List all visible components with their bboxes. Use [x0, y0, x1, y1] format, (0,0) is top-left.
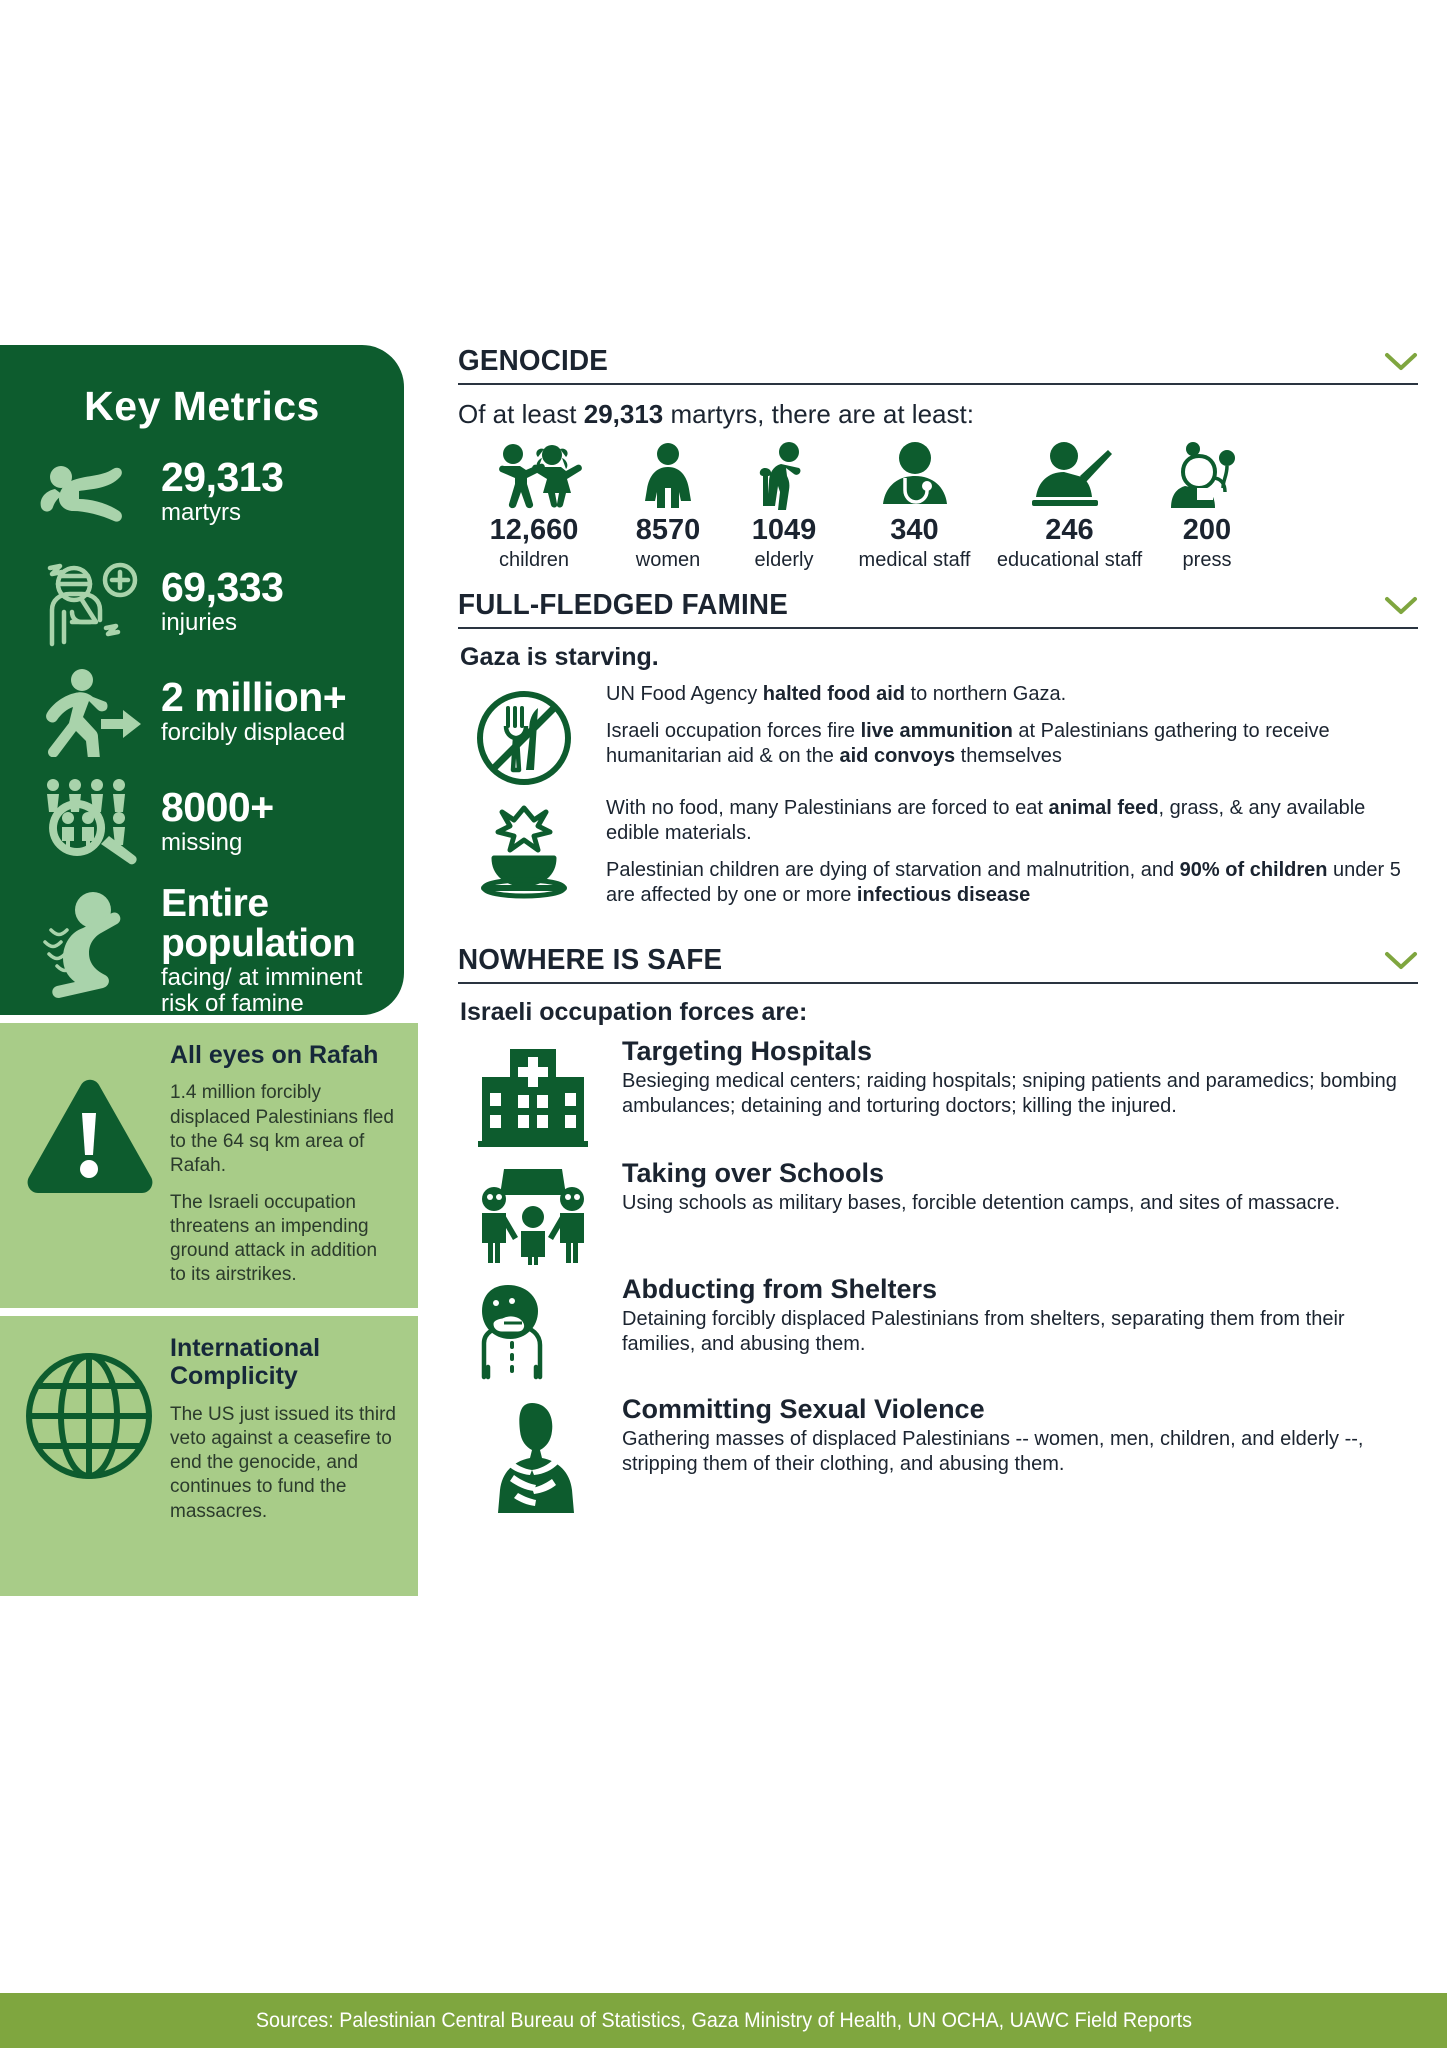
safe-body: Detaining forcibly displaced Palestinian… — [622, 1307, 1418, 1357]
breakdown-value: 340 — [842, 516, 987, 545]
genocide-title: GENOCIDE — [458, 345, 608, 378]
famine-subtitle: Gaza is starving. — [460, 643, 1418, 672]
metric-label: forcibly displaced — [161, 720, 346, 747]
breakdown-cell-children: 12,660 children — [458, 438, 610, 571]
famine-section: FULL-FLEDGED FAMINE Gaza is starving. — [458, 589, 1418, 920]
para-post-2: themselves — [955, 745, 1062, 767]
abduction-icon — [458, 1275, 608, 1385]
metric-label: facing/ at imminent risk of famine — [161, 965, 386, 1019]
fleeing-person-icon — [32, 664, 147, 760]
reporter-icon — [1152, 438, 1262, 510]
famine-paragraph: Israeli occupation forces fire live ammu… — [606, 719, 1418, 769]
globe-icon — [14, 1334, 164, 1486]
metric-label: martyrs — [161, 500, 283, 527]
genocide-lead-number: 29,313 — [584, 399, 664, 429]
para-pre: UN Food Agency — [606, 683, 763, 705]
safe-item-schools: Taking over Schools Using schools as mil… — [458, 1159, 1418, 1265]
breakdown-label: educational staff — [987, 549, 1152, 571]
empty-bowl-icon — [458, 796, 590, 904]
page-body: Key Metrics 29,313 martyrs — [0, 0, 1447, 1770]
safe-item-abduction: Abducting from Shelters Detaining forcib… — [458, 1275, 1418, 1385]
metric-value: 8000+ — [161, 787, 274, 829]
metric-label: missing — [161, 830, 274, 857]
teacher-icon — [987, 438, 1152, 510]
famine-block-1: UN Food Agency halted food aid to northe… — [458, 682, 1418, 790]
metric-label: injuries — [161, 610, 283, 637]
metric-row-missing: 8000+ missing — [18, 774, 386, 870]
breakdown-cell-educational: 246 educational staff — [987, 438, 1152, 571]
chevron-down-icon[interactable] — [1384, 951, 1418, 971]
breakdown-cell-medical: 340 medical staff — [842, 438, 987, 571]
metric-value: 2 million+ — [161, 677, 346, 719]
sources-footer: Sources: Palestinian Central Bureau of S… — [0, 1993, 1447, 2048]
section-divider — [458, 982, 1418, 984]
elderly-cane-icon — [726, 438, 842, 510]
fallen-body-icon — [32, 444, 147, 540]
section-divider — [458, 383, 1418, 385]
soldiers-school-icon — [458, 1159, 608, 1265]
breakdown-value: 200 — [1152, 516, 1262, 545]
para-bold-2: infectious disease — [857, 884, 1030, 906]
breakdown-label: medical staff — [842, 549, 987, 571]
para-pre: With no food, many Palestinians are forc… — [606, 797, 1048, 819]
safe-heading: Taking over Schools — [622, 1159, 1418, 1189]
metric-row-injuries: 69,333 injuries — [18, 554, 386, 650]
metric-row-martyrs: 29,313 martyrs — [18, 444, 386, 540]
right-column: GENOCIDE Of at least 29,313 martyrs, the… — [458, 345, 1418, 1523]
breakdown-cell-elderly: 1049 elderly — [726, 438, 842, 571]
metric-value: Entire population — [161, 884, 386, 964]
para-bold: live ammunition — [861, 720, 1013, 742]
international-complicity-panel: International Complicity The US just iss… — [0, 1316, 418, 1596]
safe-heading: Targeting Hospitals — [622, 1037, 1418, 1067]
nowhere-safe-subtitle: Israeli occupation forces are: — [460, 998, 1418, 1027]
injured-person-icon — [32, 554, 147, 650]
nowhere-safe-title: NOWHERE IS SAFE — [458, 944, 722, 977]
para-bold: halted food aid — [763, 683, 905, 705]
safe-heading: Abducting from Shelters — [622, 1275, 1418, 1305]
breakdown-value: 1049 — [726, 516, 842, 545]
famine-paragraph: Palestinian children are dying of starva… — [606, 858, 1418, 908]
breakdown-cell-women: 8570 women — [610, 438, 726, 571]
section-divider — [458, 627, 1418, 629]
rafah-paragraph-1: 1.4 million forcibly displaced Palestini… — [170, 1081, 396, 1178]
woman-icon — [610, 438, 726, 510]
breakdown-cell-press: 200 press — [1152, 438, 1262, 571]
assault-icon — [458, 1395, 608, 1513]
key-metrics-card: Key Metrics 29,313 martyrs — [0, 345, 404, 1015]
breakdown-label: elderly — [726, 549, 842, 571]
safe-body: Using schools as military bases, forcibl… — [622, 1191, 1418, 1216]
safe-body: Gathering masses of displaced Palestinia… — [622, 1427, 1418, 1477]
para-post: to northern Gaza. — [905, 683, 1066, 705]
breakdown-value: 8570 — [610, 516, 726, 545]
genocide-breakdown-row: 12,660 children 8570 women — [458, 438, 1418, 571]
metric-value: 29,313 — [161, 457, 283, 499]
key-metrics-title: Key Metrics — [18, 383, 386, 430]
para-pre: Palestinian children are dying of starva… — [606, 859, 1180, 881]
famine-title: FULL-FLEDGED FAMINE — [458, 589, 788, 622]
metric-row-famine: Entire population facing/ at imminent ri… — [18, 884, 386, 1018]
safe-item-hospitals: Targeting Hospitals Besieging medical ce… — [458, 1037, 1418, 1149]
metric-row-displaced: 2 million+ forcibly displaced — [18, 664, 386, 760]
warning-triangle-icon — [14, 1041, 164, 1203]
para-pre: Israeli occupation forces fire — [606, 720, 861, 742]
genocide-lead-post: martyrs, there are at least: — [663, 399, 974, 429]
breakdown-label: women — [610, 549, 726, 571]
rafah-paragraph-2: The Israeli occupation threatens an impe… — [170, 1191, 396, 1288]
doctor-icon — [842, 438, 987, 510]
safe-item-sexual-violence: Committing Sexual Violence Gathering mas… — [458, 1395, 1418, 1513]
breakdown-value: 12,660 — [458, 516, 610, 545]
para-bold: 90% of children — [1180, 859, 1328, 881]
starving-person-icon — [32, 884, 147, 1004]
para-bold: animal feed — [1048, 797, 1158, 819]
two-children-icon — [458, 438, 610, 510]
breakdown-label: press — [1152, 549, 1262, 571]
para-bold-2: aid convoys — [840, 745, 956, 767]
rafah-panel: All eyes on Rafah 1.4 million forcibly d… — [0, 1023, 418, 1308]
breakdown-label: children — [458, 549, 610, 571]
safe-body: Besieging medical centers; raiding hospi… — [622, 1069, 1418, 1119]
genocide-lead-pre: Of at least — [458, 399, 584, 429]
hospital-icon — [458, 1037, 608, 1149]
international-heading: International Complicity — [170, 1334, 396, 1391]
famine-paragraph: UN Food Agency halted food aid to northe… — [606, 682, 1418, 707]
sources-text: Sources: Palestinian Central Bureau of S… — [255, 2009, 1191, 2033]
famine-paragraph: With no food, many Palestinians are forc… — [606, 796, 1418, 846]
famine-block-2: With no food, many Palestinians are forc… — [458, 796, 1418, 920]
chevron-down-icon[interactable] — [1384, 352, 1418, 372]
breakdown-value: 246 — [987, 516, 1152, 545]
rafah-heading: All eyes on Rafah — [170, 1041, 396, 1069]
safe-heading: Committing Sexual Violence — [622, 1395, 1418, 1425]
international-paragraph-1: The US just issued its third veto agains… — [170, 1403, 396, 1525]
metric-value: 69,333 — [161, 567, 283, 609]
no-food-icon — [458, 682, 590, 790]
nowhere-safe-section: NOWHERE IS SAFE Israeli occupation force… — [458, 944, 1418, 1513]
missing-people-icon — [32, 774, 147, 870]
genocide-lead: Of at least 29,313 martyrs, there are at… — [458, 399, 1418, 430]
genocide-section: GENOCIDE Of at least 29,313 martyrs, the… — [458, 345, 1418, 571]
chevron-down-icon[interactable] — [1384, 596, 1418, 616]
